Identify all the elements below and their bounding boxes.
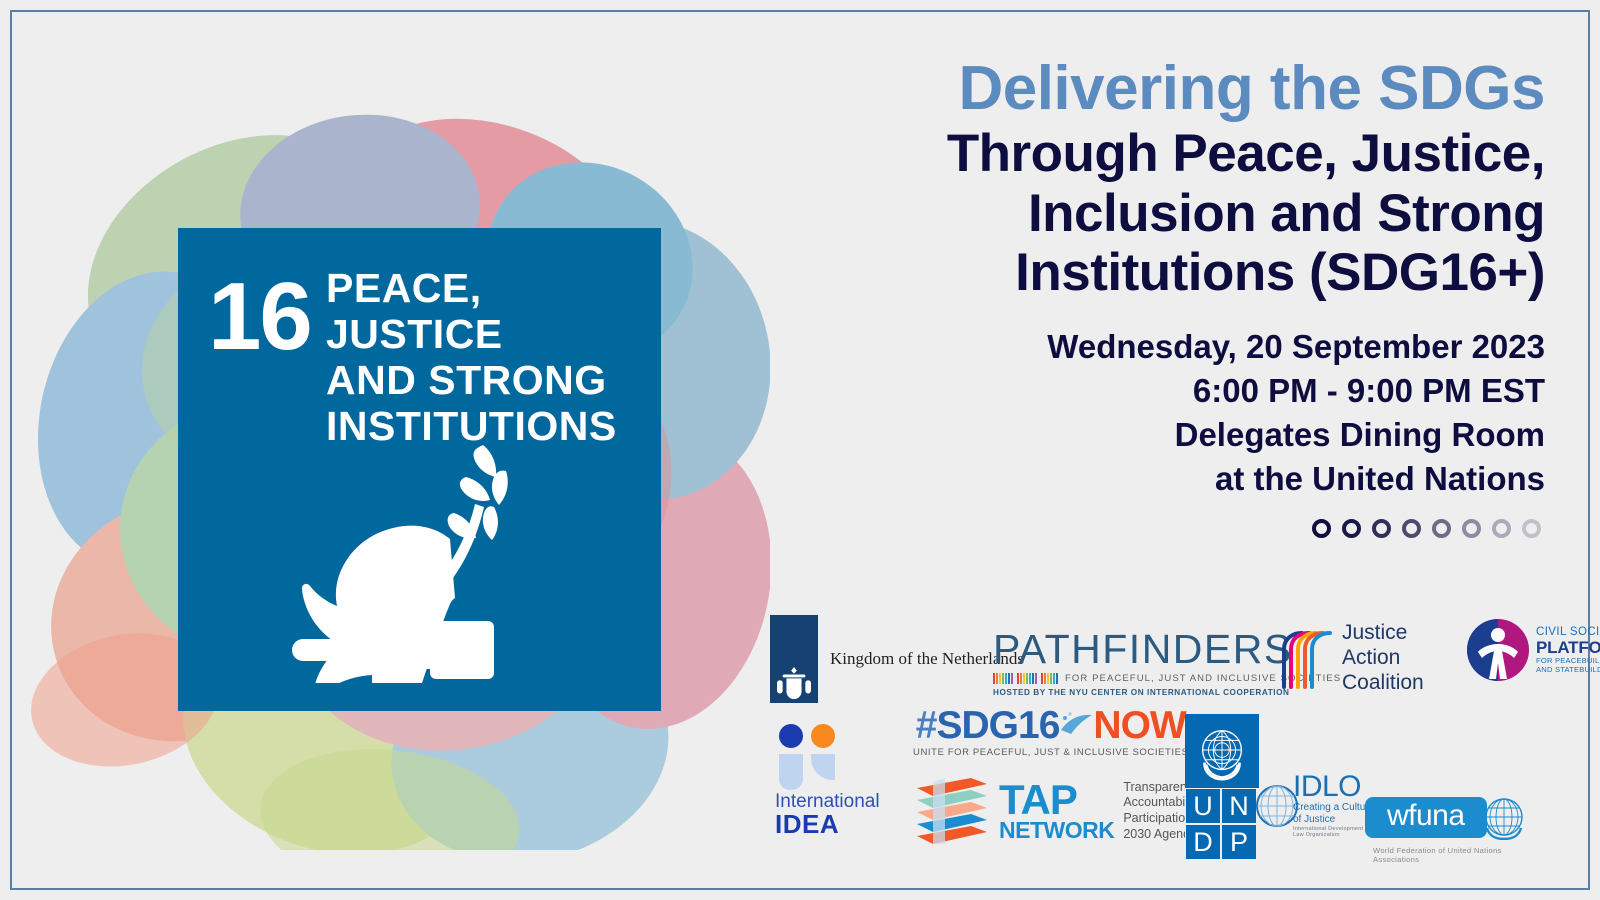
sdg16now-now: NOW xyxy=(1093,706,1185,745)
idlo-sub4: Law Organization xyxy=(1293,832,1374,839)
logo-undp: UNDP xyxy=(1185,714,1259,860)
idlo-label: IDLO xyxy=(1293,772,1374,802)
headline-line4: Institutions (SDG16+) xyxy=(770,243,1545,303)
tap-network-wordmark: TAP NETWORK xyxy=(999,781,1114,841)
logo-kingdom-of-the-netherlands: Kingdom of the Netherlands xyxy=(770,615,1024,703)
decorative-dot xyxy=(1402,519,1421,538)
idlo-sub1: Creating a Culture xyxy=(1293,802,1374,814)
headline-line2: Through Peace, Justice, xyxy=(770,124,1545,184)
un-emblem-icon xyxy=(1185,714,1259,788)
event-venue-org: at the United Nations xyxy=(770,457,1545,501)
pathfinders-host-line: HOSTED BY THE NYU CENTER ON INTERNATIONA… xyxy=(993,688,1289,697)
decorative-dot xyxy=(1462,519,1481,538)
jac-line2: Action xyxy=(1342,645,1424,670)
partner-logos: Kingdom of the Netherlands PATHFINDERS F… xyxy=(765,612,1545,862)
civil-society-platform-wordmark: CIVIL SOCIETY PLATFORM FOR PEACEBUILDING… xyxy=(1536,626,1600,675)
netherlands-flag-icon xyxy=(770,615,818,703)
justice-action-coalition-wordmark: Justice Action Coalition xyxy=(1342,620,1424,696)
headline-block: Delivering the SDGs Through Peace, Justi… xyxy=(770,56,1545,538)
logo-wfuna: wfuna World Federation of United Nations… xyxy=(1365,794,1527,840)
idlo-sub3: International Development xyxy=(1293,826,1374,833)
sdg16now-wing-icon xyxy=(1059,706,1093,732)
undp-letter: P xyxy=(1221,824,1257,860)
decorative-dots xyxy=(770,519,1545,538)
sdg16now-tagline: UNITE FOR PEACEFUL, JUST & INCLUSIVE SOC… xyxy=(913,747,1189,758)
civil-society-platform-mark-icon xyxy=(1465,617,1531,683)
undp-letters: UNDP xyxy=(1185,788,1259,860)
wfuna-tagline: World Federation of United Nations Assoc… xyxy=(1373,846,1527,864)
decorative-dot xyxy=(1492,519,1511,538)
logo-international-idea: International IDEA xyxy=(775,724,880,838)
idea-label-idea: IDEA xyxy=(775,811,839,838)
decorative-dot xyxy=(1372,519,1391,538)
wfuna-wordmark: wfuna xyxy=(1365,797,1487,838)
network-label: NETWORK xyxy=(999,820,1114,841)
event-date: Wednesday, 20 September 2023 xyxy=(770,325,1545,369)
international-idea-mark-icon xyxy=(775,724,847,790)
sdg16-number: 16 xyxy=(208,274,311,360)
csp-line2: PLATFORM xyxy=(1536,638,1600,657)
logo-justice-action-coalition: Justice Action Coalition xyxy=(1278,620,1424,696)
idea-left-bar-icon xyxy=(779,754,803,790)
sdg16-title: PEACE, JUSTICE AND STRONG INSTITUTIONS xyxy=(326,266,646,450)
tap-network-mark-icon xyxy=(913,774,991,848)
tap-label: TAP xyxy=(999,781,1114,820)
sdg16-tile: 16 PEACE, JUSTICE AND STRONG INSTITUTION… xyxy=(178,228,661,711)
dove-and-gavel-icon xyxy=(278,433,568,683)
sdg16now-hash: # xyxy=(916,706,937,745)
sdg16now-sdg: SDG xyxy=(937,706,1019,745)
netherlands-coat-of-arms-icon xyxy=(775,667,813,701)
jac-line1: Justice xyxy=(1342,620,1424,645)
csp-line1: CIVIL SOCIETY xyxy=(1536,626,1600,639)
decorative-dot xyxy=(1312,519,1331,538)
event-poster: 16 PEACE, JUSTICE AND STRONG INSTITUTION… xyxy=(0,0,1600,900)
headline-line1: Delivering the SDGs xyxy=(770,56,1545,122)
jac-line3: Coalition xyxy=(1342,670,1424,695)
logo-sdg16now: #SDG16NOW UNITE FOR PEACEFUL, JUST & INC… xyxy=(913,706,1189,758)
event-time: 6:00 PM - 9:00 PM EST xyxy=(770,369,1545,413)
headline-line3: Inclusion and Strong xyxy=(770,184,1545,244)
undp-letter: N xyxy=(1221,788,1257,824)
idea-right-bar-icon xyxy=(811,754,835,780)
pathfinders-wordmark: PATHFINDERS xyxy=(993,629,1293,670)
sdg16-title-line2: AND STRONG xyxy=(326,358,646,404)
undp-letter: D xyxy=(1185,824,1221,860)
idlo-sub2: of Justice xyxy=(1293,814,1374,826)
sdg16now-wordmark: #SDG16NOW xyxy=(916,706,1186,745)
logo-tap-network: TAP NETWORK Transparency, Accountability… xyxy=(913,774,1212,848)
csp-line4: AND STATEBUILDING xyxy=(1536,666,1600,675)
logo-civil-society-platform: CIVIL SOCIETY PLATFORM FOR PEACEBUILDING… xyxy=(1465,617,1600,683)
idlo-wordmark: IDLO Creating a Culture of Justice Inter… xyxy=(1293,772,1374,839)
decorative-dot xyxy=(1432,519,1451,538)
event-details: Wednesday, 20 September 2023 6:00 PM - 9… xyxy=(770,325,1545,501)
idea-orange-dot-icon xyxy=(811,724,835,748)
logo-idlo: IDLO Creating a Culture of Justice Inter… xyxy=(1255,772,1374,839)
sdg16now-16: 16 xyxy=(1018,706,1059,745)
event-venue: Delegates Dining Room xyxy=(770,413,1545,457)
wfuna-un-emblem-icon xyxy=(1481,794,1527,840)
idea-blue-dot-icon xyxy=(779,724,803,748)
decorative-dot xyxy=(1342,519,1361,538)
pathfinders-bars-icon xyxy=(993,673,1058,684)
undp-letter: U xyxy=(1185,788,1221,824)
sdg16-title-line1: PEACE, JUSTICE xyxy=(326,266,646,358)
justice-action-coalition-mark-icon xyxy=(1278,627,1334,689)
decorative-dot xyxy=(1522,519,1541,538)
